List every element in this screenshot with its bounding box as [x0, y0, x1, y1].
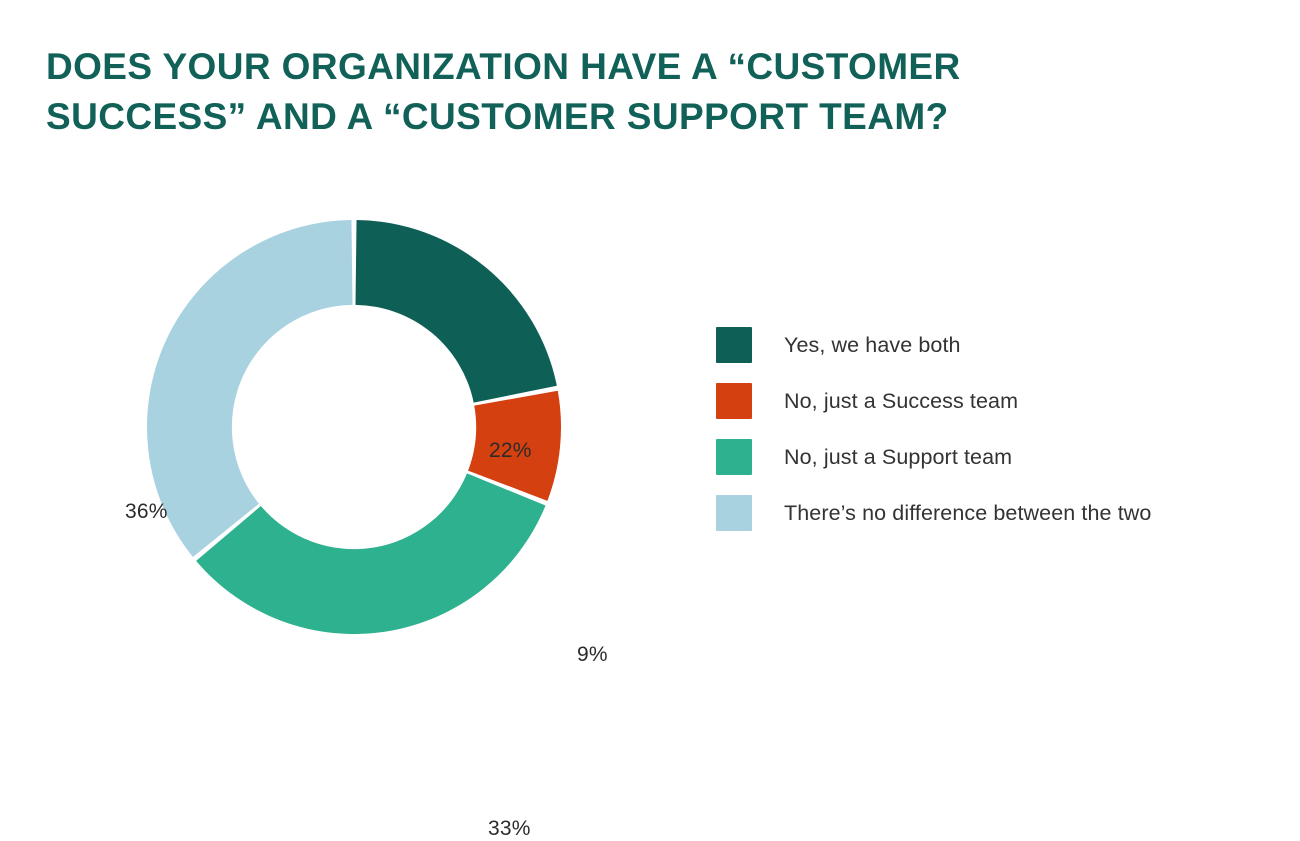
donut-slice	[147, 220, 353, 557]
slice-label-no-just-a-success-team: 9%	[577, 643, 608, 667]
legend-swatch-icon-no-just-a-success-team	[716, 383, 752, 419]
legend-item-theres-no-difference-between-the-two: There’s no difference between the two	[716, 495, 1151, 531]
legend-label-theres-no-difference-between-the-two: There’s no difference between the two	[784, 501, 1151, 526]
donut-chart-svg	[110, 200, 630, 670]
page-title: Does your organization have a “Customer …	[46, 42, 1116, 142]
legend-swatch-icon-theres-no-difference-between-the-two	[716, 495, 752, 531]
legend-label-yes-we-have-both: Yes, we have both	[784, 333, 961, 358]
legend-item-yes-we-have-both: Yes, we have both	[716, 327, 1151, 363]
legend-item-no-just-a-success-team: No, just a Success team	[716, 383, 1151, 419]
donut-slice-group	[147, 220, 561, 634]
slice-label-no-just-a-support-team: 33%	[488, 817, 531, 841]
legend-label-no-just-a-support-team: No, just a Support team	[784, 445, 1012, 470]
legend-swatch-icon-no-just-a-support-team	[716, 439, 752, 475]
legend-label-no-just-a-success-team: No, just a Success team	[784, 389, 1018, 414]
legend-swatch-icon-yes-we-have-both	[716, 327, 752, 363]
chart-legend: Yes, we have both No, just a Success tea…	[716, 327, 1151, 531]
slice-label-theres-no-difference-between-the-two: 36%	[125, 500, 168, 524]
donut-slice	[355, 220, 556, 403]
legend-item-no-just-a-support-team: No, just a Support team	[716, 439, 1151, 475]
donut-chart: 22% 9% 33% 36%	[110, 200, 630, 670]
slice-label-yes-we-have-both: 22%	[489, 439, 532, 463]
